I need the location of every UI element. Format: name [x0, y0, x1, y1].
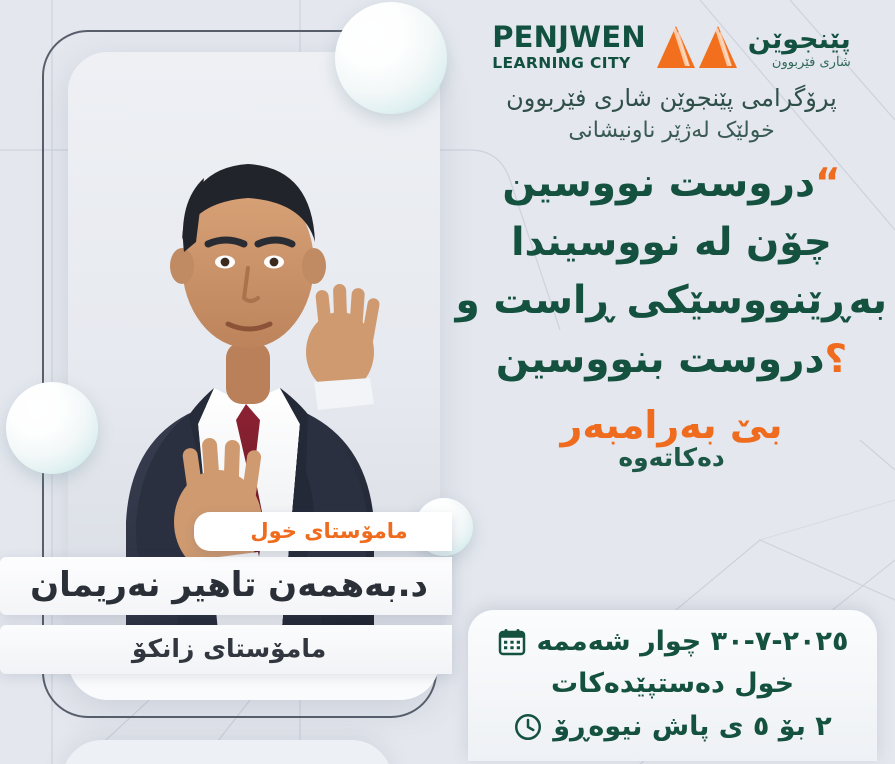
- logo-kurdish-text: پێنجوێن شاری فێربوون: [748, 26, 851, 69]
- speaker-info: مامۆستای خول د.بەهمەن تاهیر نەریمان مامۆ…: [0, 512, 452, 674]
- program-line: پرۆگرامی پێنجوێن شاری فێربوون: [448, 84, 895, 112]
- course-title-text-4: دروست بنووسین: [496, 337, 825, 382]
- course-title-line-2: چۆن لە نووسیندا: [456, 214, 887, 273]
- free-subline: دەکاتەوە: [448, 443, 895, 472]
- poster-content-column: پێنجوێن شاری فێربوون PENJWEN LEARNING CI…: [448, 0, 895, 764]
- subtitle-line: خولێک لەژێر ناونیشانی: [448, 118, 895, 143]
- speaker-role: مامۆستای زانکۆ: [0, 625, 452, 674]
- course-title-line-1: “دروست نووسین: [456, 155, 887, 214]
- logo-kurdish-main: پێنجوێن: [748, 26, 851, 53]
- speaker-badge: مامۆستای خول: [194, 512, 452, 551]
- date-text: ٢٠٢٥-٧-٣٠ چوار شەممە: [537, 624, 849, 660]
- logo-kurdish-sub: شاری فێربوون: [748, 56, 851, 69]
- course-poster: مامۆستای خول د.بەهمەن تاهیر نەریمان مامۆ…: [0, 0, 895, 764]
- two-open-books-mountain-mark-icon: [656, 22, 738, 72]
- speaker-name: د.بەهمەن تاهیر نەریمان: [0, 557, 452, 615]
- logo-english-sub: LEARNING CITY: [492, 56, 646, 72]
- course-title-text-1: دروست نووسین: [502, 161, 815, 206]
- schedule-card: ٢٠٢٥-٧-٣٠ چوار شەممە: [468, 610, 877, 761]
- clock-icon: [513, 712, 543, 742]
- question-mark: ؟: [824, 337, 847, 382]
- free-headline: بێ بەرامبەر: [448, 403, 895, 447]
- logo-english-text: PENJWEN LEARNING CITY: [492, 23, 646, 72]
- decorative-sphere-left: [6, 382, 98, 474]
- brand-logo: پێنجوێن شاری فێربوون PENJWEN LEARNING CI…: [448, 0, 895, 72]
- logo-english-main: PENJWEN: [492, 23, 646, 52]
- calendar-icon: [497, 627, 527, 657]
- time-row: ٢ بۆ ٥ ی پاش نیوەڕۆ: [490, 709, 855, 745]
- time-text: ٢ بۆ ٥ ی پاش نیوەڕۆ: [553, 709, 832, 745]
- date-row: ٢٠٢٥-٧-٣٠ چوار شەممە: [490, 624, 855, 660]
- bottom-ghost-card: [62, 740, 392, 764]
- course-title: “دروست نووسین چۆن لە نووسیندا بەڕێنووسێک…: [448, 155, 895, 389]
- course-title-line-3: بەڕێنووسێکی ڕاست و: [456, 272, 887, 331]
- decorative-sphere-top: [335, 2, 447, 114]
- start-label-row: خول دەستپێدەکات: [490, 666, 855, 702]
- start-label: خول دەستپێدەکات: [551, 666, 794, 702]
- course-title-line-4: ؟دروست بنووسین: [456, 331, 887, 390]
- quote-open-mark: “: [815, 161, 841, 206]
